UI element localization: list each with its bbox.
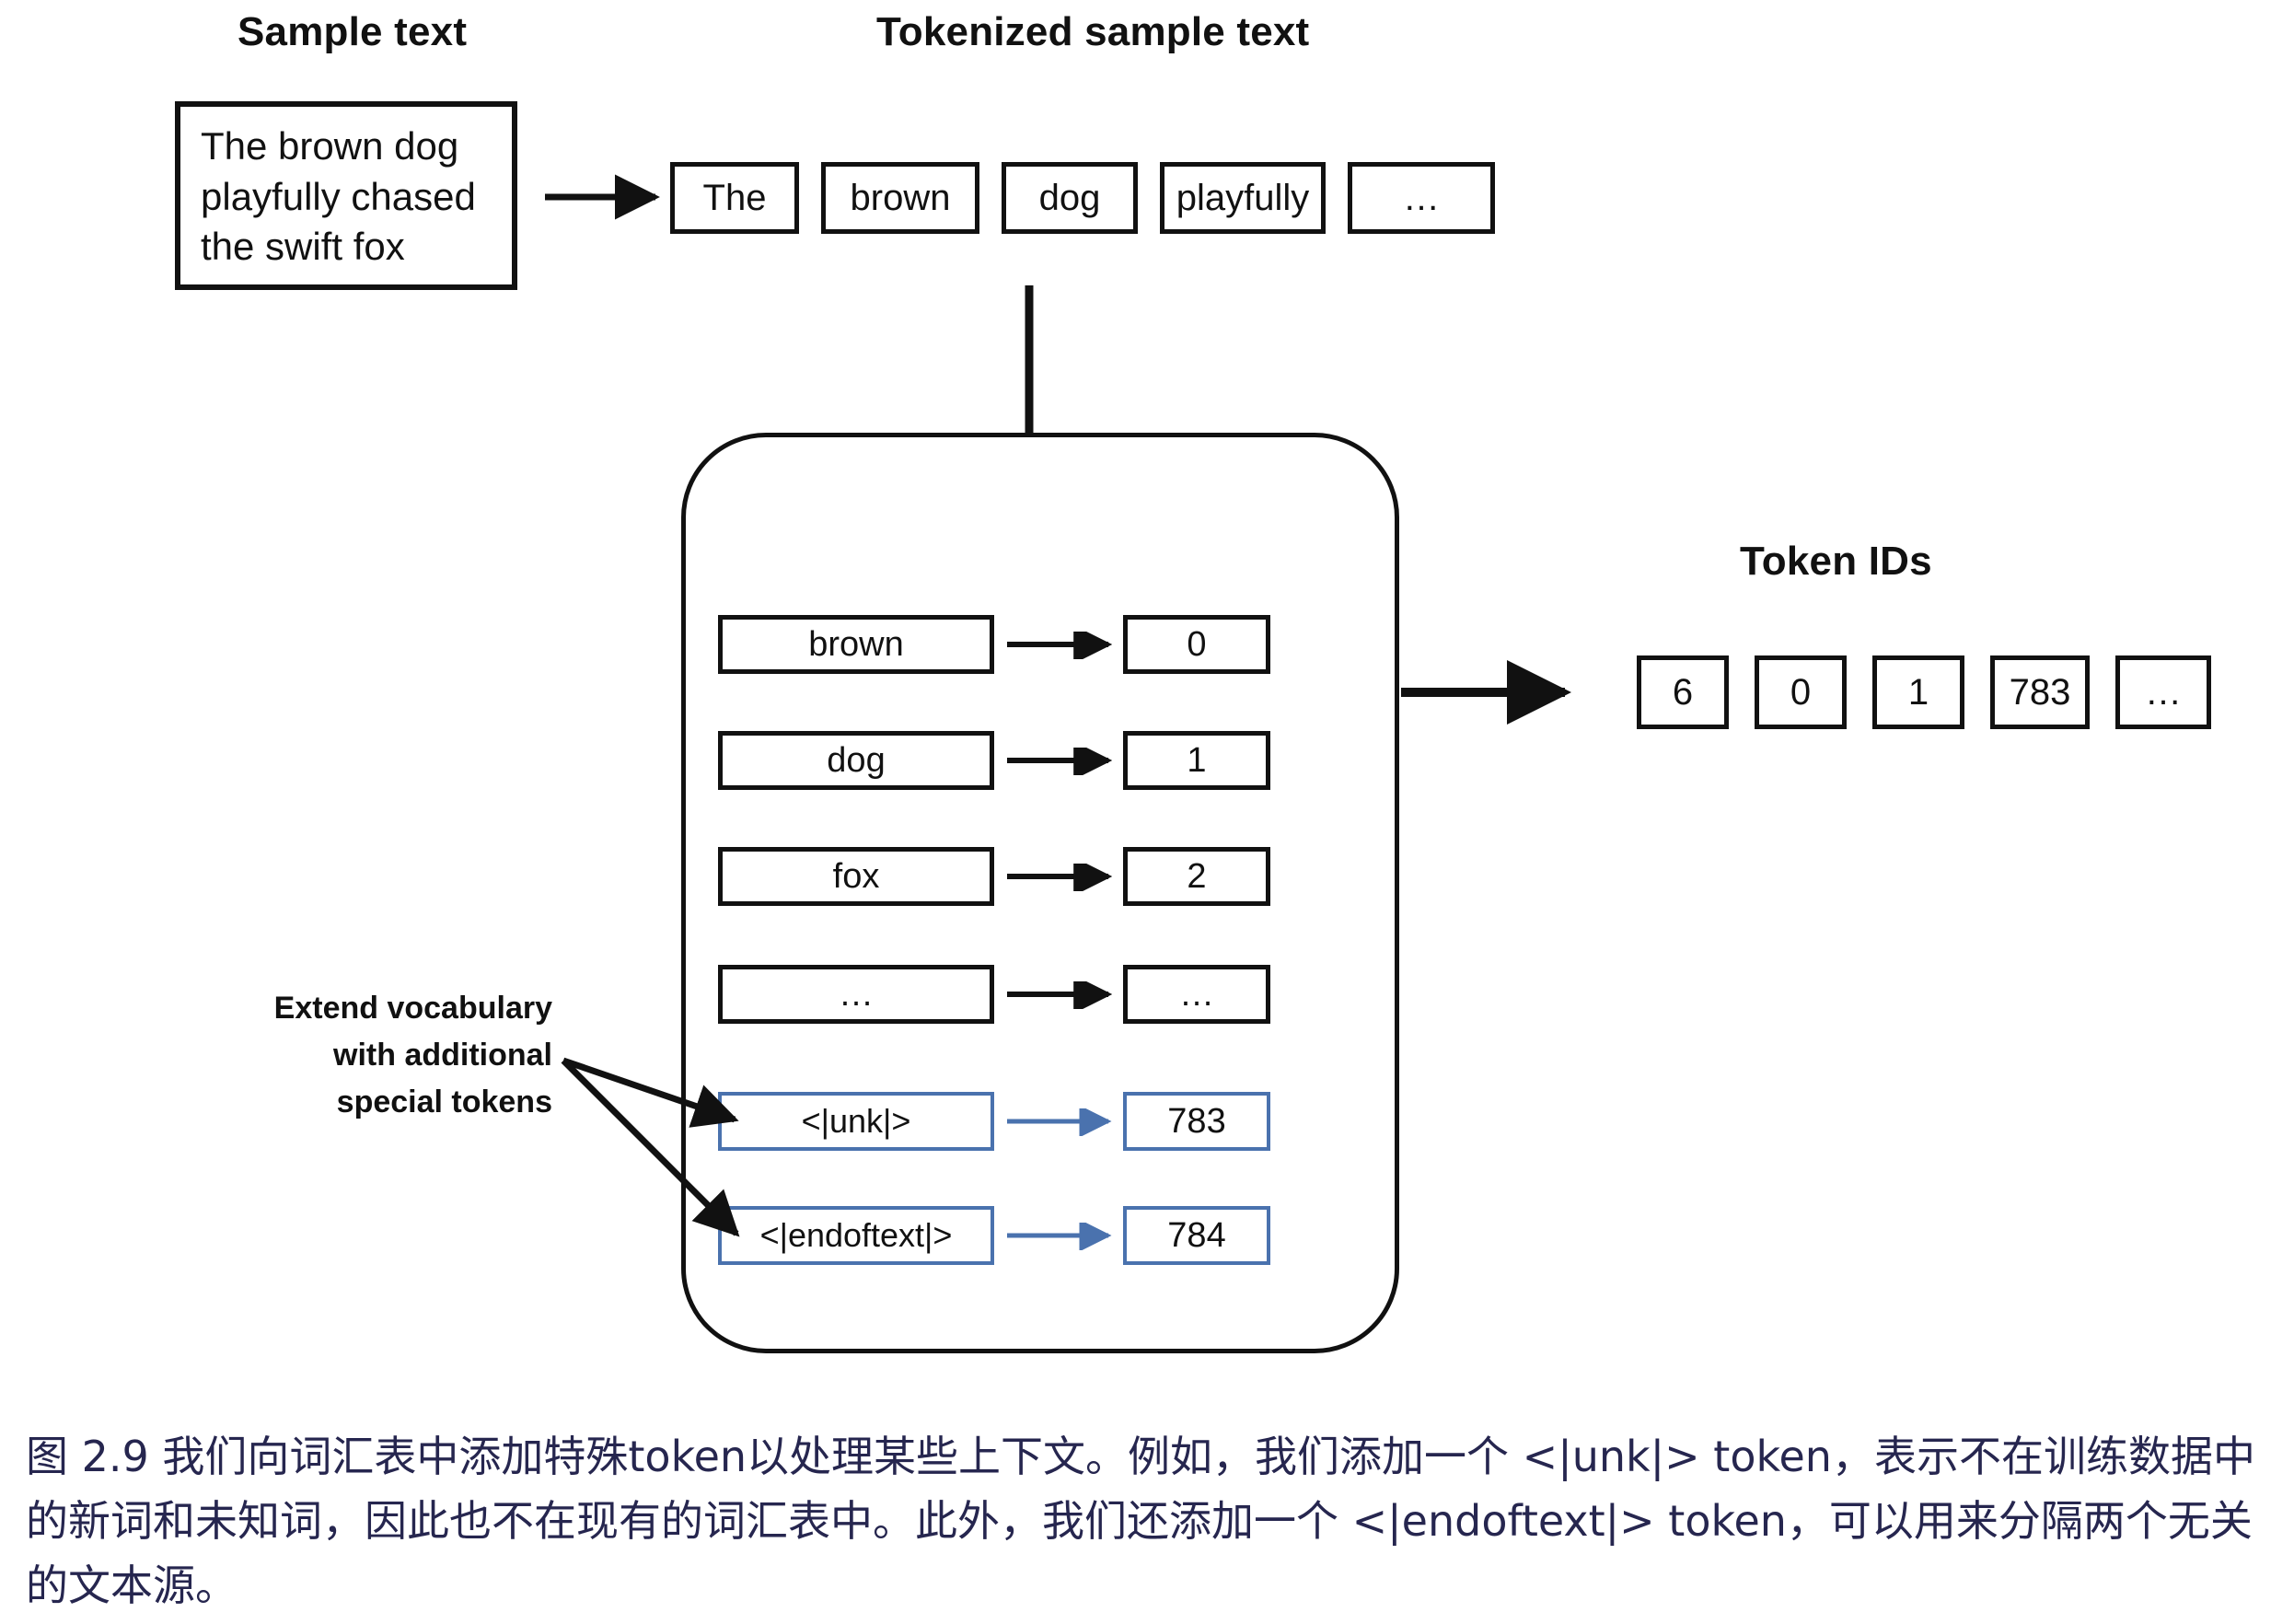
token-id-box: … bbox=[2115, 655, 2211, 729]
token-id-box: 1 bbox=[1872, 655, 1964, 729]
token-id-label: 1 bbox=[1908, 672, 1929, 713]
token-id-label: … bbox=[2145, 672, 2182, 713]
token-id-label: 783 bbox=[2010, 672, 2071, 713]
annotation-line: with additional bbox=[166, 1032, 552, 1079]
annotation-line: Extend vocabulary bbox=[166, 985, 552, 1032]
token-box: brown bbox=[821, 162, 979, 234]
special-token-box: <|unk|> bbox=[718, 1092, 994, 1151]
arrow-word-to-id bbox=[1005, 1108, 1118, 1136]
token-id-label: 0 bbox=[1790, 672, 1811, 713]
token-box: … bbox=[1348, 162, 1495, 234]
vocabulary-id-box: 783 bbox=[1123, 1092, 1270, 1151]
vocabulary-word-box: … bbox=[718, 965, 994, 1024]
arrow-word-to-id bbox=[1005, 864, 1118, 891]
vocabulary-id-box: 0 bbox=[1123, 615, 1270, 674]
token-label: brown bbox=[851, 178, 951, 219]
vocabulary-word-box: brown bbox=[718, 615, 994, 674]
token-label: … bbox=[1403, 178, 1440, 219]
token-id-label: 6 bbox=[1673, 672, 1693, 713]
annotation-line: special tokens bbox=[166, 1079, 552, 1126]
sample-text-line: the swift fox bbox=[201, 222, 493, 273]
extend-vocabulary-annotation: Extend vocabulary with additional specia… bbox=[166, 985, 552, 1126]
vocabulary-word-box: dog bbox=[718, 731, 994, 790]
token-box: dog bbox=[1002, 162, 1138, 234]
special-token-box: <|endoftext|> bbox=[718, 1206, 994, 1265]
token-id-box: 0 bbox=[1755, 655, 1847, 729]
arrow-word-to-id bbox=[1005, 748, 1118, 775]
token-ids-heading: Token IDs bbox=[1740, 539, 1932, 585]
token-label: playfully bbox=[1176, 178, 1310, 219]
sample-text-box: The brown dog playfully chased the swift… bbox=[175, 101, 517, 290]
token-label: The bbox=[703, 178, 767, 219]
vocabulary-id-box: 1 bbox=[1123, 731, 1270, 790]
sample-text-heading: Sample text bbox=[238, 9, 467, 55]
arrow-word-to-id bbox=[1005, 981, 1118, 1009]
token-id-box: 6 bbox=[1637, 655, 1729, 729]
token-box: playfully bbox=[1160, 162, 1326, 234]
token-label: dog bbox=[1039, 178, 1101, 219]
vocabulary-word-box: fox bbox=[718, 847, 994, 906]
figure-caption: 图 2.9 我们向词汇表中添加特殊token以处理某些上下文。例如，我们添加一个… bbox=[26, 1425, 2272, 1618]
arrow-word-to-id bbox=[1005, 1223, 1118, 1250]
vocabulary-id-box: … bbox=[1123, 965, 1270, 1024]
token-id-box: 783 bbox=[1990, 655, 2090, 729]
arrow-word-to-id bbox=[1005, 632, 1118, 659]
sample-text-line: playfully chased bbox=[201, 172, 493, 223]
sample-text-line: The brown dog bbox=[201, 122, 493, 172]
vocabulary-id-box: 784 bbox=[1123, 1206, 1270, 1265]
tokenized-sample-text-heading: Tokenized sample text bbox=[876, 9, 1309, 55]
token-box: The bbox=[670, 162, 799, 234]
vocabulary-id-box: 2 bbox=[1123, 847, 1270, 906]
